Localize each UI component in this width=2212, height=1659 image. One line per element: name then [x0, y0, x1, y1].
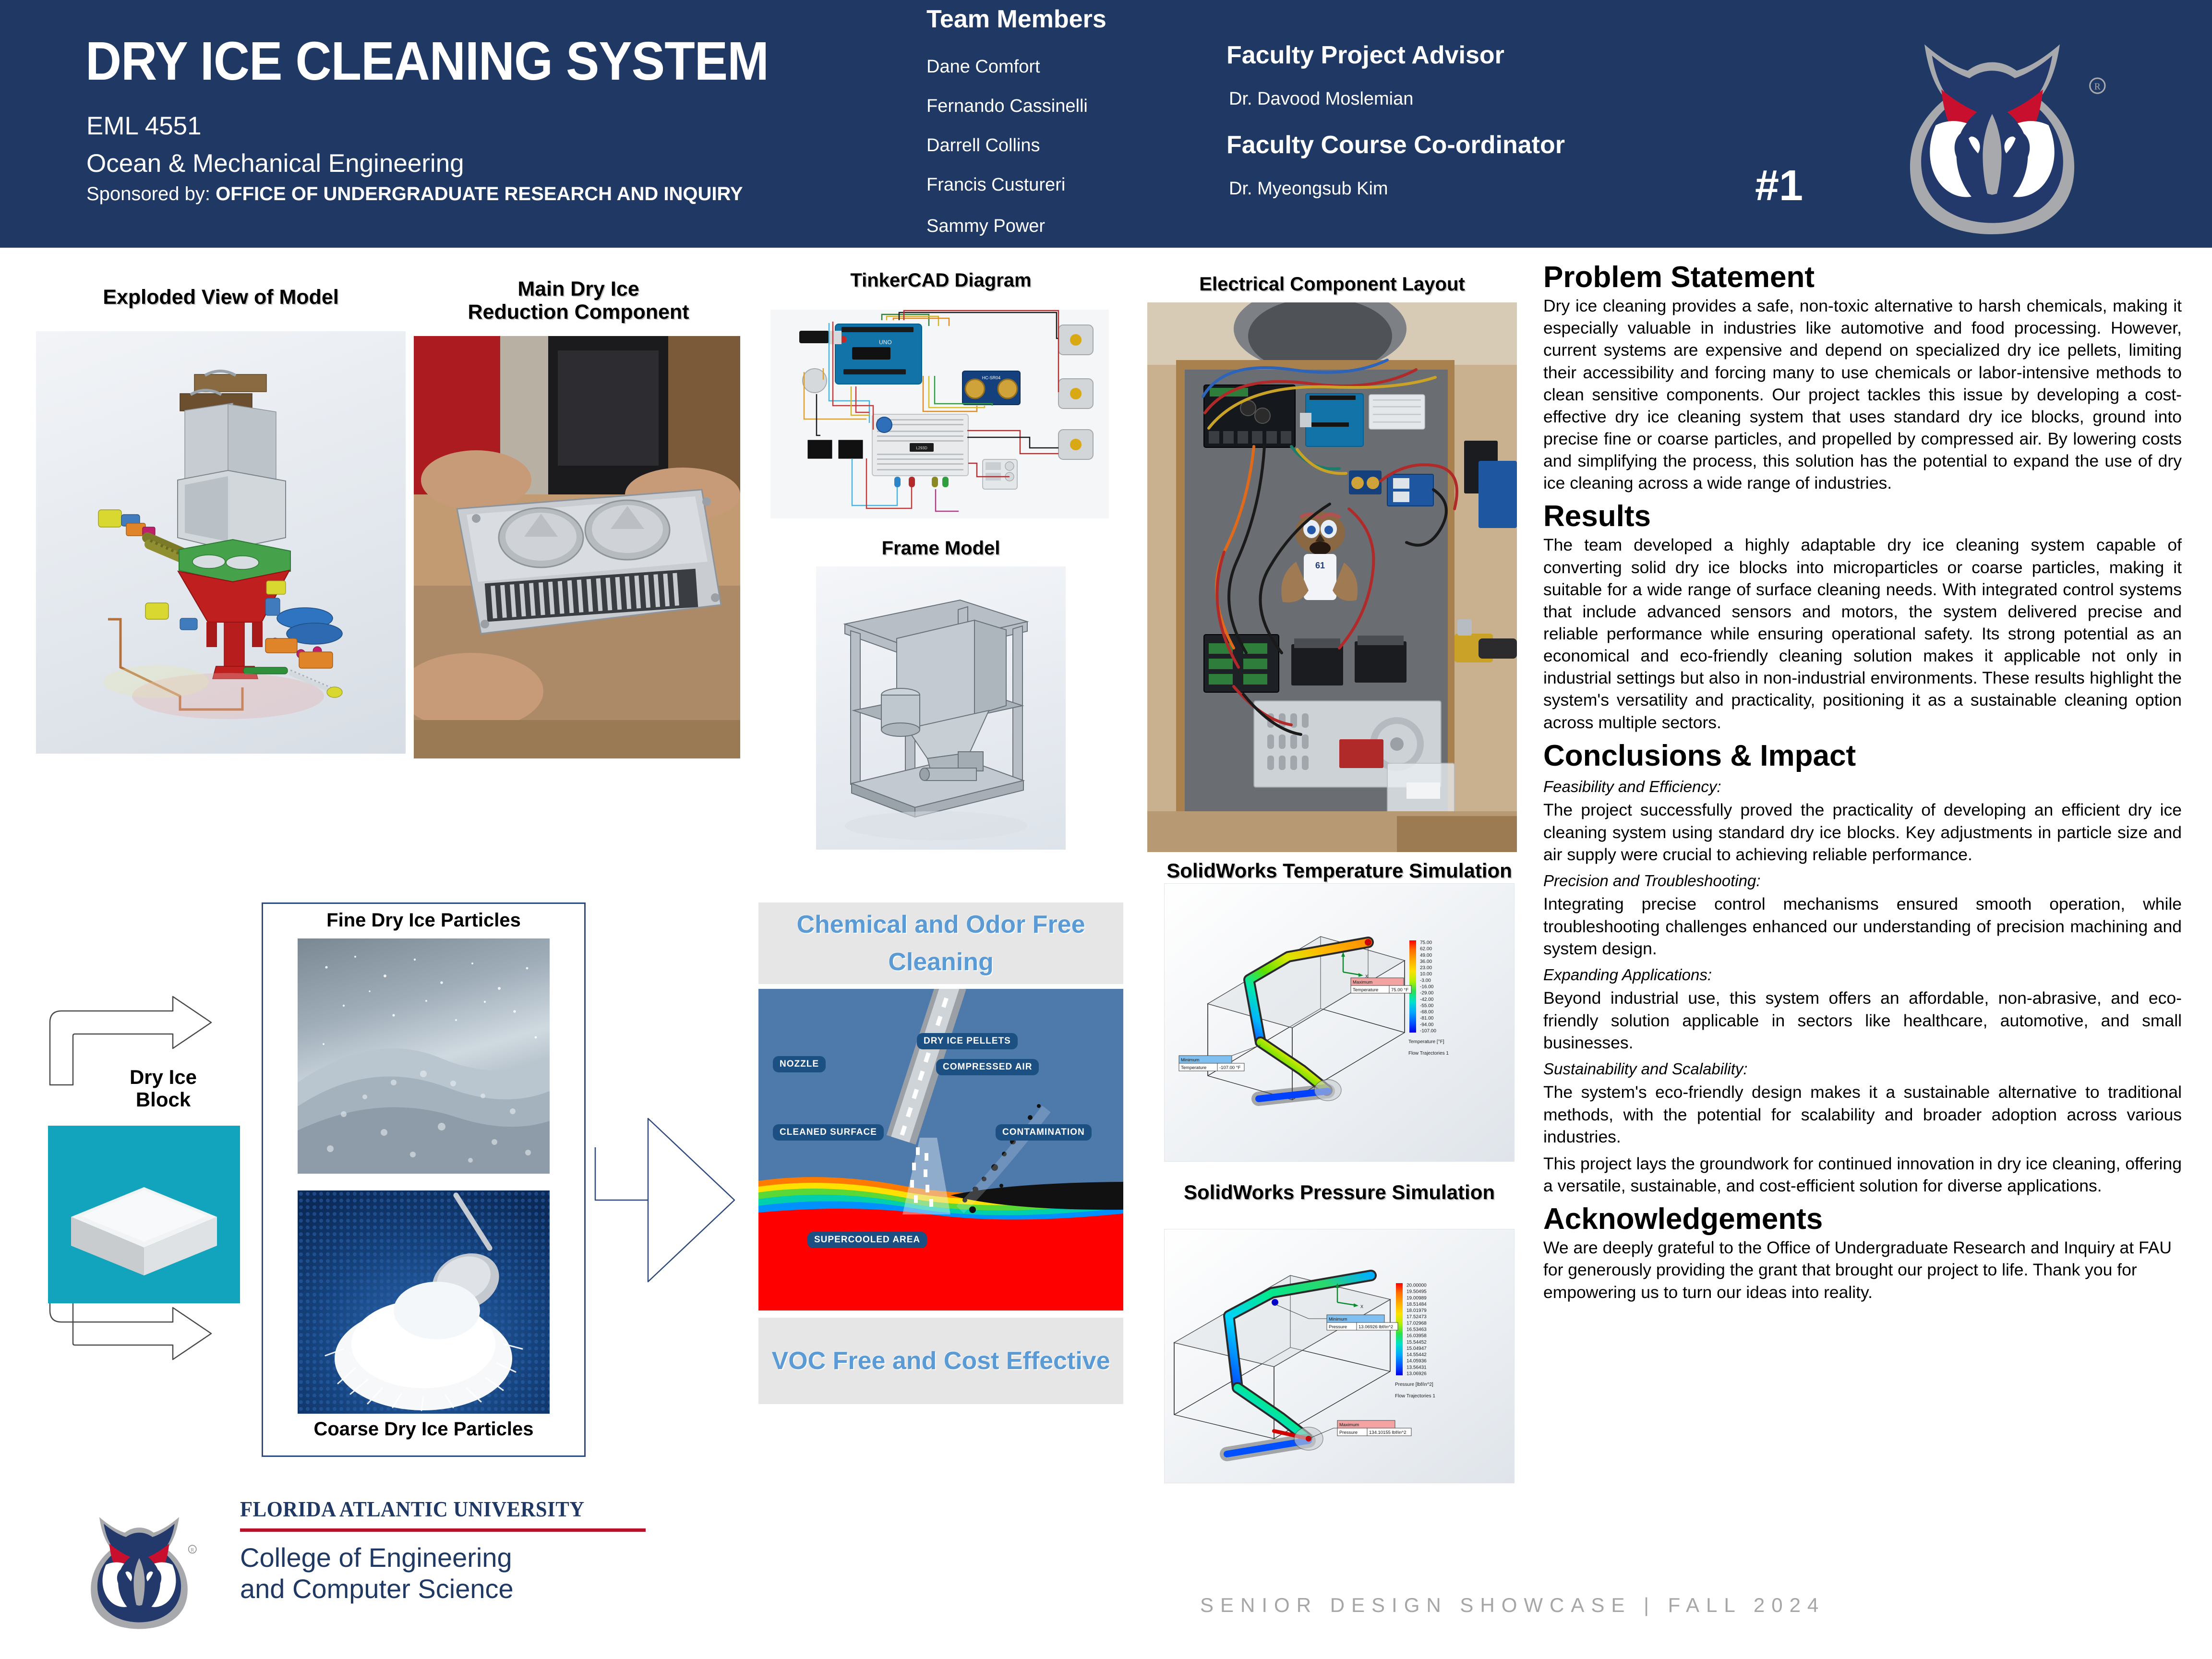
fau-college-line2: and Computer Science [240, 1574, 653, 1605]
fau-owl-logo-footer-icon: R [67, 1491, 211, 1635]
main-component-title: Main Dry Ice Reduction Component [406, 277, 751, 324]
sw-pressure-legend-subtitle: Flow Trajectories 1 [1395, 1394, 1435, 1399]
banner-voc-free-cost-effective: VOC Free and Cost Effective [758, 1318, 1123, 1404]
team-member-1: Dane Comfort [926, 57, 1040, 77]
fau-wordmark: FLORIDA ATLANTIC UNIVERSITY College of E… [240, 1497, 653, 1605]
svg-text:23.00: 23.00 [1420, 965, 1432, 971]
team-member-2: Fernando Cassinelli [926, 96, 1088, 117]
svg-text:L293D: L293D [916, 446, 927, 450]
electrical-layout-title: Electrical Component Layout [1142, 274, 1522, 295]
coarse-dry-ice-particles-image [298, 1190, 550, 1414]
fau-university-name: FLORIDA ATLANTIC UNIVERSITY [240, 1497, 632, 1522]
dry-ice-block-image [48, 1126, 240, 1303]
sponsor-name: OFFICE OF UNDERGRADUATE RESEARCH AND INQ… [216, 183, 743, 204]
nozzle-label-cleaned-surface: CLEANED SURFACE [773, 1124, 884, 1141]
faculty-advisor-name: Dr. Davood Moslemian [1229, 89, 1413, 109]
svg-text:75.00: 75.00 [1420, 940, 1432, 946]
coarse-particles-label: Coarse Dry Ice Particles [262, 1419, 586, 1440]
svg-text:-42.00: -42.00 [1420, 997, 1434, 1002]
svg-text:Maximum: Maximum [1353, 980, 1372, 985]
fau-owl-logo-icon: R [1867, 9, 2117, 234]
acknowledgements-heading: Acknowledgements [1543, 1203, 2182, 1235]
dry-ice-block-label: Dry Ice Block [101, 1066, 226, 1111]
svg-text:Minimum: Minimum [1181, 1058, 1200, 1063]
svg-text:49.00: 49.00 [1420, 953, 1432, 958]
dry-ice-block-label-line1: Dry Ice [101, 1066, 226, 1088]
svg-text:-94.00: -94.00 [1420, 1022, 1434, 1027]
svg-text:18.01979: 18.01979 [1407, 1308, 1427, 1313]
svg-text:10.00: 10.00 [1420, 972, 1432, 977]
electrical-component-layout-photo: 61 [1147, 302, 1517, 852]
svg-text:75.00 °F: 75.00 °F [1391, 987, 1408, 993]
nozzle-label-contamination: CONTAMINATION [996, 1124, 1092, 1141]
svg-text:Maximum: Maximum [1339, 1422, 1359, 1428]
svg-text:-3.00: -3.00 [1420, 978, 1431, 983]
results-heading: Results [1543, 501, 2182, 532]
svg-text:17.02968: 17.02968 [1407, 1321, 1427, 1326]
svg-text:16.03958: 16.03958 [1407, 1334, 1427, 1339]
sponsor-line: Sponsored by: OFFICE OF UNDERGRADUATE RE… [86, 183, 743, 205]
converge-arrow [590, 1056, 749, 1344]
nozzle-label-dry-ice-pellets: DRY ICE PELLETS [917, 1033, 1018, 1049]
svg-text:14.05936: 14.05936 [1407, 1358, 1427, 1364]
svg-text:-68.00: -68.00 [1420, 1010, 1434, 1015]
conclusion-sub4-title: Sustainability and Scalability: [1543, 1059, 2182, 1079]
faculty-coordinator-name: Dr. Myeongsub Kim [1229, 179, 1388, 199]
nozzle-label-compressed-air: COMPRESSED AIR [936, 1059, 1039, 1075]
svg-text:19.00989: 19.00989 [1407, 1296, 1427, 1301]
tinkercad-circuit-diagram: UNO HC-SR04 L293D [770, 310, 1109, 518]
faculty-advisor-heading: Faculty Project Advisor [1226, 41, 1504, 70]
svg-text:-107.00: -107.00 [1420, 1029, 1436, 1034]
problem-statement-text: Dry ice cleaning provides a safe, non-to… [1543, 295, 2182, 494]
solidworks-temperature-simulation-image: X 75.0062.0049.0036.0023.0010.00-3.00-16… [1164, 883, 1515, 1162]
svg-text:13.06926: 13.06926 [1407, 1371, 1427, 1377]
svg-text:Temperature: Temperature [1353, 987, 1378, 993]
svg-text:13.56431: 13.56431 [1407, 1365, 1427, 1370]
fau-college-line1: College of Engineering [240, 1542, 653, 1574]
fau-college-name: College of Engineering and Computer Scie… [240, 1542, 653, 1605]
acknowledgements-text: We are deeply grateful to the Office of … [1543, 1237, 2182, 1303]
svg-text:Pressure: Pressure [1339, 1430, 1358, 1435]
svg-text:15.54452: 15.54452 [1407, 1340, 1427, 1345]
fine-particles-label: Fine Dry Ice Particles [262, 910, 586, 931]
exploded-view-image [36, 331, 406, 754]
conclusion-sub1-title: Feasibility and Efficiency: [1543, 777, 2182, 796]
conclusion-sub3-title: Expanding Applications: [1543, 965, 2182, 985]
conclusion-sub1-text: The project successfully proved the prac… [1543, 799, 2182, 865]
frame-model-cad-image [816, 566, 1066, 850]
tinkercad-title: TinkerCAD Diagram [768, 270, 1114, 291]
svg-text:19.50495: 19.50495 [1407, 1289, 1427, 1295]
svg-text:134.10155 lbf/in^2: 134.10155 lbf/in^2 [1369, 1430, 1406, 1435]
conclusion-sub3-text: Beyond industrial use, this system offer… [1543, 987, 2182, 1053]
sw-temp-legend-title: Temperature [°F] [1408, 1039, 1444, 1045]
dry-ice-block-label-line2: Block [101, 1088, 226, 1111]
svg-text:15.04947: 15.04947 [1407, 1346, 1427, 1351]
svg-text:UNO: UNO [879, 339, 892, 346]
main-component-title-line2: Reduction Component [406, 301, 751, 324]
right-content-column: Problem Statement Dry ice cleaning provi… [1543, 262, 2182, 1308]
banner-chemical-odor-free: Chemical and Odor Free Cleaning [758, 902, 1123, 984]
svg-text:61: 61 [1315, 561, 1325, 570]
conclusion-sub2-text: Integrating precise control mechanisms e… [1543, 893, 2182, 959]
svg-text:Pressure: Pressure [1329, 1324, 1347, 1330]
svg-text:18.51484: 18.51484 [1407, 1302, 1427, 1307]
showcase-footer-text: SENIOR DESIGN SHOWCASE | FALL 2024 [1200, 1594, 1825, 1617]
frame-model-title: Frame Model [768, 538, 1114, 559]
svg-text:X: X [1360, 1304, 1363, 1309]
faculty-coordinator-heading: Faculty Course Co-ordinator [1226, 131, 1565, 159]
department-name: Ocean & Mechanical Engineering [86, 149, 464, 178]
nozzle-label-nozzle: NOZZLE [773, 1056, 826, 1072]
conclusions-heading: Conclusions & Impact [1543, 740, 2182, 771]
conclusion-sub2-title: Precision and Troubleshooting: [1543, 871, 2182, 890]
dry-ice-blasting-diagram: NOZZLE DRY ICE PELLETS COMPRESSED AIR CL… [758, 989, 1123, 1310]
team-member-5: Sammy Power [926, 216, 1045, 237]
svg-text:20.00000: 20.00000 [1407, 1283, 1427, 1288]
page-title: DRY ICE CLEANING SYSTEM [85, 30, 769, 92]
poster-header: DRY ICE CLEANING SYSTEM EML 4551 Ocean &… [0, 0, 2212, 248]
main-component-title-line1: Main Dry Ice [406, 277, 751, 301]
exploded-view-title: Exploded View of Model [26, 286, 415, 309]
svg-text:HC-SR04: HC-SR04 [982, 375, 1001, 380]
sw-temp-legend-subtitle: Flow Trajectories 1 [1408, 1051, 1449, 1056]
solidworks-pressure-simulation-image: X 20.0000019.5049519.0098918.5148418.019… [1164, 1229, 1515, 1483]
svg-text:-81.00: -81.00 [1420, 1016, 1434, 1021]
svg-text:R: R [2094, 82, 2101, 92]
svg-text:-107.00 °F: -107.00 °F [1219, 1065, 1241, 1070]
team-member-3: Darrell Collins [926, 135, 1040, 156]
nozzle-label-supercooled-area: SUPERCOOLED AREA [807, 1232, 927, 1248]
svg-text:14.55442: 14.55442 [1407, 1352, 1427, 1358]
team-members-heading: Team Members [926, 5, 1106, 34]
svg-text:R: R [191, 1548, 194, 1553]
svg-text:-16.00: -16.00 [1420, 985, 1434, 990]
svg-text:62.00: 62.00 [1420, 947, 1432, 952]
fine-dry-ice-particles-image [298, 938, 550, 1174]
conclusion-closing-text: This project lays the groundwork for con… [1543, 1153, 2182, 1197]
course-code: EML 4551 [86, 111, 202, 141]
sw-pressure-legend-title: Pressure [lbf/in^2] [1395, 1382, 1433, 1387]
results-text: The team developed a highly adaptable dr… [1543, 534, 2182, 733]
problem-statement-heading: Problem Statement [1543, 262, 2182, 293]
sw-pressure-legend-labels: 20.0000019.5049519.0098918.5148418.01979… [1407, 1283, 1427, 1377]
team-number-badge: #1 [1755, 161, 1803, 211]
sponsor-prefix: Sponsored by: [86, 183, 216, 204]
svg-text:Minimum: Minimum [1329, 1317, 1347, 1322]
svg-text:36.00: 36.00 [1420, 959, 1432, 964]
svg-text:Temperature: Temperature [1181, 1065, 1206, 1070]
svg-text:-29.00: -29.00 [1420, 991, 1434, 996]
solidworks-pressure-title: SolidWorks Pressure Simulation [1145, 1181, 1534, 1203]
svg-text:17.52473: 17.52473 [1407, 1314, 1427, 1320]
fau-divider [240, 1528, 646, 1532]
conclusion-sub4-text: The system's eco-friendly design makes i… [1543, 1081, 2182, 1147]
svg-text:13.06926 lbf/in^2: 13.06926 lbf/in^2 [1358, 1324, 1393, 1330]
svg-text:-55.00: -55.00 [1420, 1003, 1434, 1009]
main-reduction-component-photo [414, 336, 740, 758]
team-member-4: Francis Custureri [926, 175, 1065, 195]
svg-text:16.53463: 16.53463 [1407, 1327, 1427, 1333]
solidworks-temperature-title: SolidWorks Temperature Simulation [1145, 859, 1534, 882]
